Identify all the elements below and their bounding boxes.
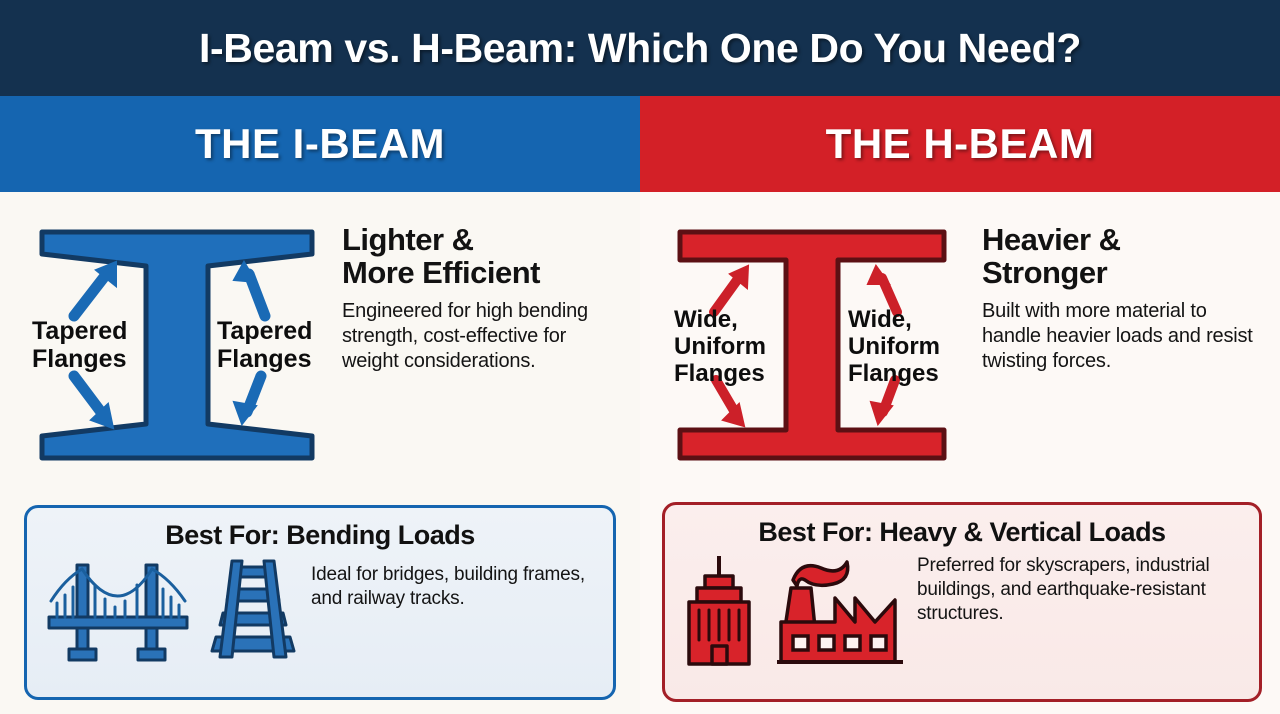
factory-icon (777, 554, 903, 670)
h-beam-best-for-panel: Best For: Heavy & Vertical Loads (662, 502, 1262, 702)
i-beam-best-for-body: Ideal for bridges, building frames, and … (27, 551, 613, 665)
i-beam-body-text: Engineered for high bending strength, co… (342, 299, 622, 375)
h-beam-illustration: Wide, Uniform Flanges Wide, Uniform Flan… (652, 224, 982, 474)
column-header-label-h-beam: THE H-BEAM (826, 120, 1095, 168)
h-beam-label-left-line2: Uniform (674, 333, 766, 360)
factory-smoke-icon (793, 562, 848, 586)
h-beam-best-for-body: Preferred for skyscrapers, industrial bu… (665, 548, 1259, 670)
column-i-beam: Tapered Flanges Tapered Flanges Lighter … (0, 192, 640, 714)
i-beam-best-for-panel: Best For: Bending Loads (24, 505, 616, 700)
h-beam-diagram: Wide, Uniform Flanges Wide, Uniform Flan… (652, 224, 982, 474)
i-beam-label-right-line1: Tapered (217, 317, 312, 345)
arrow-down-right-icon (234, 376, 261, 424)
h-beam-label-left-line3: Flanges (674, 360, 765, 387)
railway-track-icon (207, 557, 299, 665)
i-beam-headline-line1: Lighter & (342, 224, 622, 257)
h-beam-headline-block: Heavier & Stronger Built with more mater… (982, 192, 1280, 374)
column-header-i-beam: THE I-BEAM (0, 96, 640, 192)
suspension-bridge-icon (43, 557, 193, 665)
i-beam-label-left-line2: Flanges (32, 345, 126, 373)
i-beam-top-row: Tapered Flanges Tapered Flanges Lighter … (0, 192, 640, 457)
h-beam-body-text: Built with more material to handle heavi… (982, 299, 1262, 375)
h-beam-label-right-line3: Flanges (848, 360, 939, 387)
h-beam-top-row: Wide, Uniform Flanges Wide, Uniform Flan… (640, 192, 1280, 457)
i-beam-best-for-text: Ideal for bridges, building frames, and … (303, 557, 607, 611)
i-beam-label-right-line2: Flanges (217, 345, 311, 373)
arrow-down-left-icon (74, 376, 113, 428)
i-beam-diagram: Tapered Flanges Tapered Flanges (12, 224, 342, 474)
h-beam-headline-line1: Heavier & (982, 224, 1262, 257)
h-beam-best-for-text: Preferred for skyscrapers, industrial bu… (907, 554, 1253, 626)
column-header-h-beam: THE H-BEAM (640, 96, 1280, 192)
i-beam-headline: Lighter & More Efficient (342, 224, 622, 290)
title-bar: I-Beam vs. H-Beam: Which One Do You Need… (0, 0, 1280, 96)
h-beam-best-for-title: Best For: Heavy & Vertical Loads (665, 513, 1259, 548)
h-beam-icons-row (679, 554, 903, 670)
i-beam-label-left-line1: Tapered (32, 317, 127, 345)
i-beam-illustration: Tapered Flanges Tapered Flanges (12, 224, 342, 474)
i-beam-icons-row (43, 557, 299, 665)
i-beam-best-for-title: Best For: Bending Loads (27, 516, 613, 551)
infographic-page: I-Beam vs. H-Beam: Which One Do You Need… (0, 0, 1280, 714)
arrow-up-right-icon (234, 262, 265, 316)
i-beam-headline-line2: More Efficient (342, 257, 622, 290)
page-title: I-Beam vs. H-Beam: Which One Do You Need… (199, 25, 1081, 72)
h-beam-headline: Heavier & Stronger (982, 224, 1262, 290)
arrow-up-left-icon (74, 262, 116, 316)
h-beam-label-right-line2: Uniform (848, 333, 940, 360)
h-beam-label-left-line1: Wide, (674, 306, 738, 333)
h-beam-label-right-line1: Wide, (848, 306, 912, 333)
h-beam-headline-line2: Stronger (982, 257, 1262, 290)
column-header-label-i-beam: THE I-BEAM (195, 120, 445, 168)
skyscraper-icon (679, 554, 763, 670)
i-beam-headline-block: Lighter & More Efficient Engineered for … (342, 192, 640, 374)
column-h-beam: Wide, Uniform Flanges Wide, Uniform Flan… (640, 192, 1280, 714)
